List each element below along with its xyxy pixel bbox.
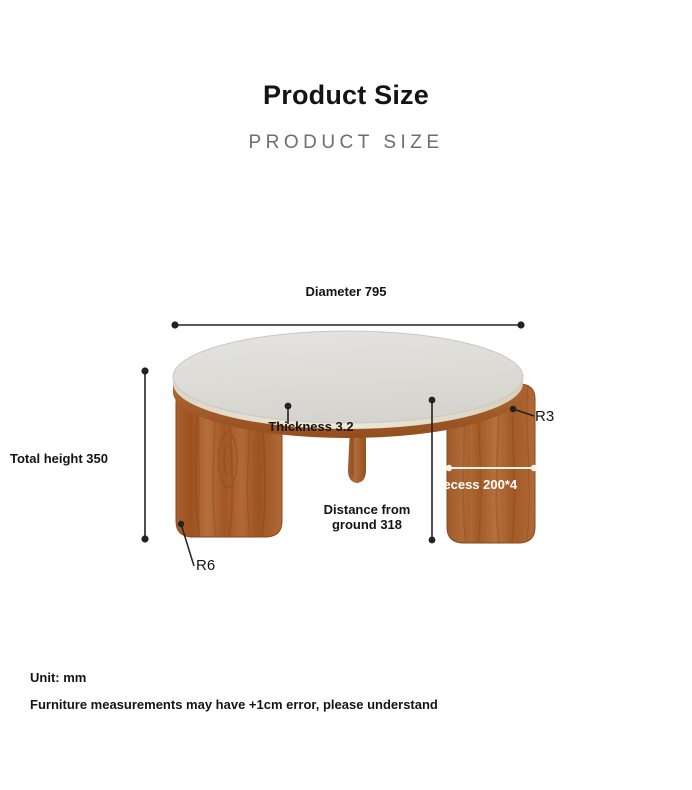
- dimension-line-total-height: [141, 367, 148, 542]
- note-unit: Unit: mm: [30, 670, 86, 685]
- label-distance-from-ground: Distance from ground 318: [309, 503, 425, 533]
- product-size-page: Product Size PRODUCT SIZE: [0, 0, 692, 790]
- label-radius-r3: R3: [535, 408, 554, 425]
- label-thickness: Thickness 3.2: [263, 420, 359, 435]
- label-radius-r6: R6: [196, 557, 215, 574]
- label-total-height: Total height 350: [10, 452, 108, 467]
- dimension-line-diameter: [171, 321, 524, 328]
- table-top: [173, 331, 523, 429]
- label-diameter: Diameter 795: [0, 285, 692, 300]
- label-recess: Recess 200*4: [434, 478, 536, 493]
- table-diagram: [0, 0, 692, 790]
- note-tolerance: Furniture measurements may have +1cm err…: [30, 697, 438, 712]
- table-illustration-svg: [0, 0, 692, 790]
